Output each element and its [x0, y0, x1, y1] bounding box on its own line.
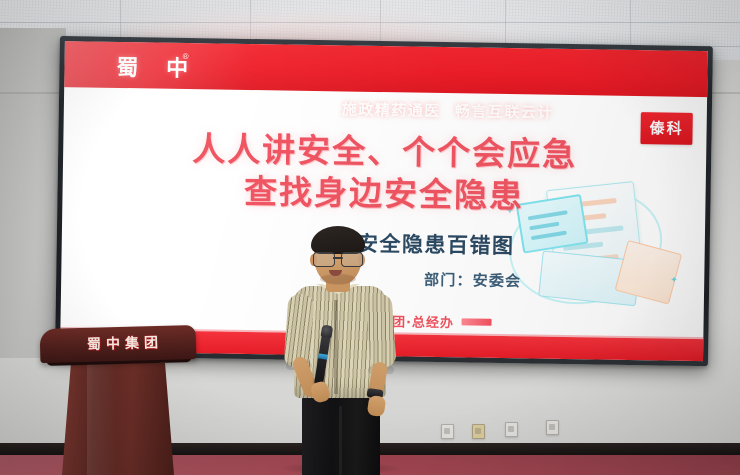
speaker-shirt-placket — [334, 300, 338, 394]
microphone-indicator-band — [318, 353, 328, 359]
speaker — [282, 224, 398, 475]
lectern-body — [62, 363, 174, 475]
microphone-capsule — [321, 325, 334, 339]
headline-line-2: 查找身边安全隐患 — [62, 169, 706, 219]
wall-outlet-3 — [505, 422, 518, 437]
wall-outlet-4 — [546, 420, 559, 435]
brand-trademark-icon: ® — [183, 52, 189, 61]
presentation-photo-scene: 蜀 中 ® 施政精药通医畅言互联云计 傣科 — [0, 0, 740, 475]
speaker-hair — [311, 226, 365, 254]
wall-outlet-2 — [472, 424, 485, 439]
glasses-lens-right — [341, 252, 363, 267]
speaker-arm-right — [365, 293, 396, 369]
wall-outlet-1 — [441, 424, 454, 439]
footer-rule-right-icon — [462, 318, 492, 325]
speaker-hand-right — [367, 395, 387, 417]
glasses-lens-left — [313, 252, 335, 267]
lectern: 蜀中集团 — [40, 327, 196, 475]
slide-headline: 人人讲安全、个个会应急 查找身边安全隐患 — [62, 127, 706, 220]
slogan-left-text: 施政精药通医 — [342, 100, 441, 120]
slogan-right-text: 畅言互联云计 — [455, 102, 554, 122]
glasses-icon — [313, 252, 363, 265]
slide-slogan: 施政精药通医畅言互联云计 — [342, 98, 568, 123]
lectern-label: 蜀中集团 — [60, 331, 190, 354]
